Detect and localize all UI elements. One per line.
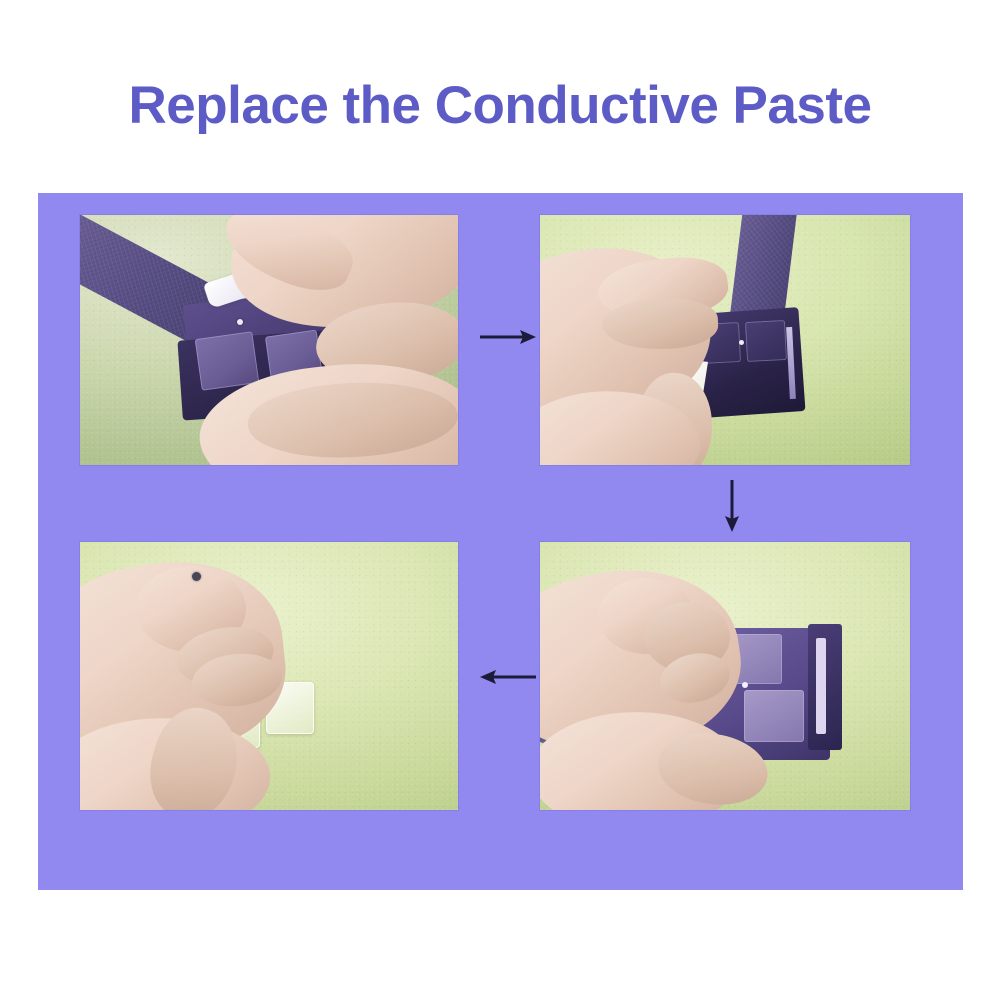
- panel-2-photo: [540, 215, 910, 465]
- page-title: Replace the Conductive Paste: [0, 78, 1000, 134]
- device-rivet: [739, 340, 744, 345]
- panel-1-photo: [80, 215, 458, 465]
- new-gel-pad-bottom: [744, 690, 804, 742]
- device-rivet: [237, 319, 243, 325]
- instruction-board: [38, 193, 963, 890]
- panel-3-scene: [540, 542, 910, 810]
- panel-3-photo: [540, 542, 910, 810]
- arrow-right-icon: [478, 323, 538, 351]
- buckle-slot: [816, 638, 826, 734]
- panel-1-scene: [80, 215, 458, 465]
- arrow-left-icon: [478, 663, 538, 691]
- contact-pad-right: [745, 320, 787, 362]
- panel-2-scene: [540, 215, 910, 465]
- contact-pad-left: [195, 331, 260, 391]
- device-rivet: [742, 682, 748, 688]
- panel-4-scene: [80, 542, 458, 810]
- ring: [192, 572, 201, 581]
- panel-4-photo: [80, 542, 458, 810]
- arrow-down-icon: [718, 478, 746, 534]
- page-root: Replace the Conductive Paste: [0, 0, 1000, 1000]
